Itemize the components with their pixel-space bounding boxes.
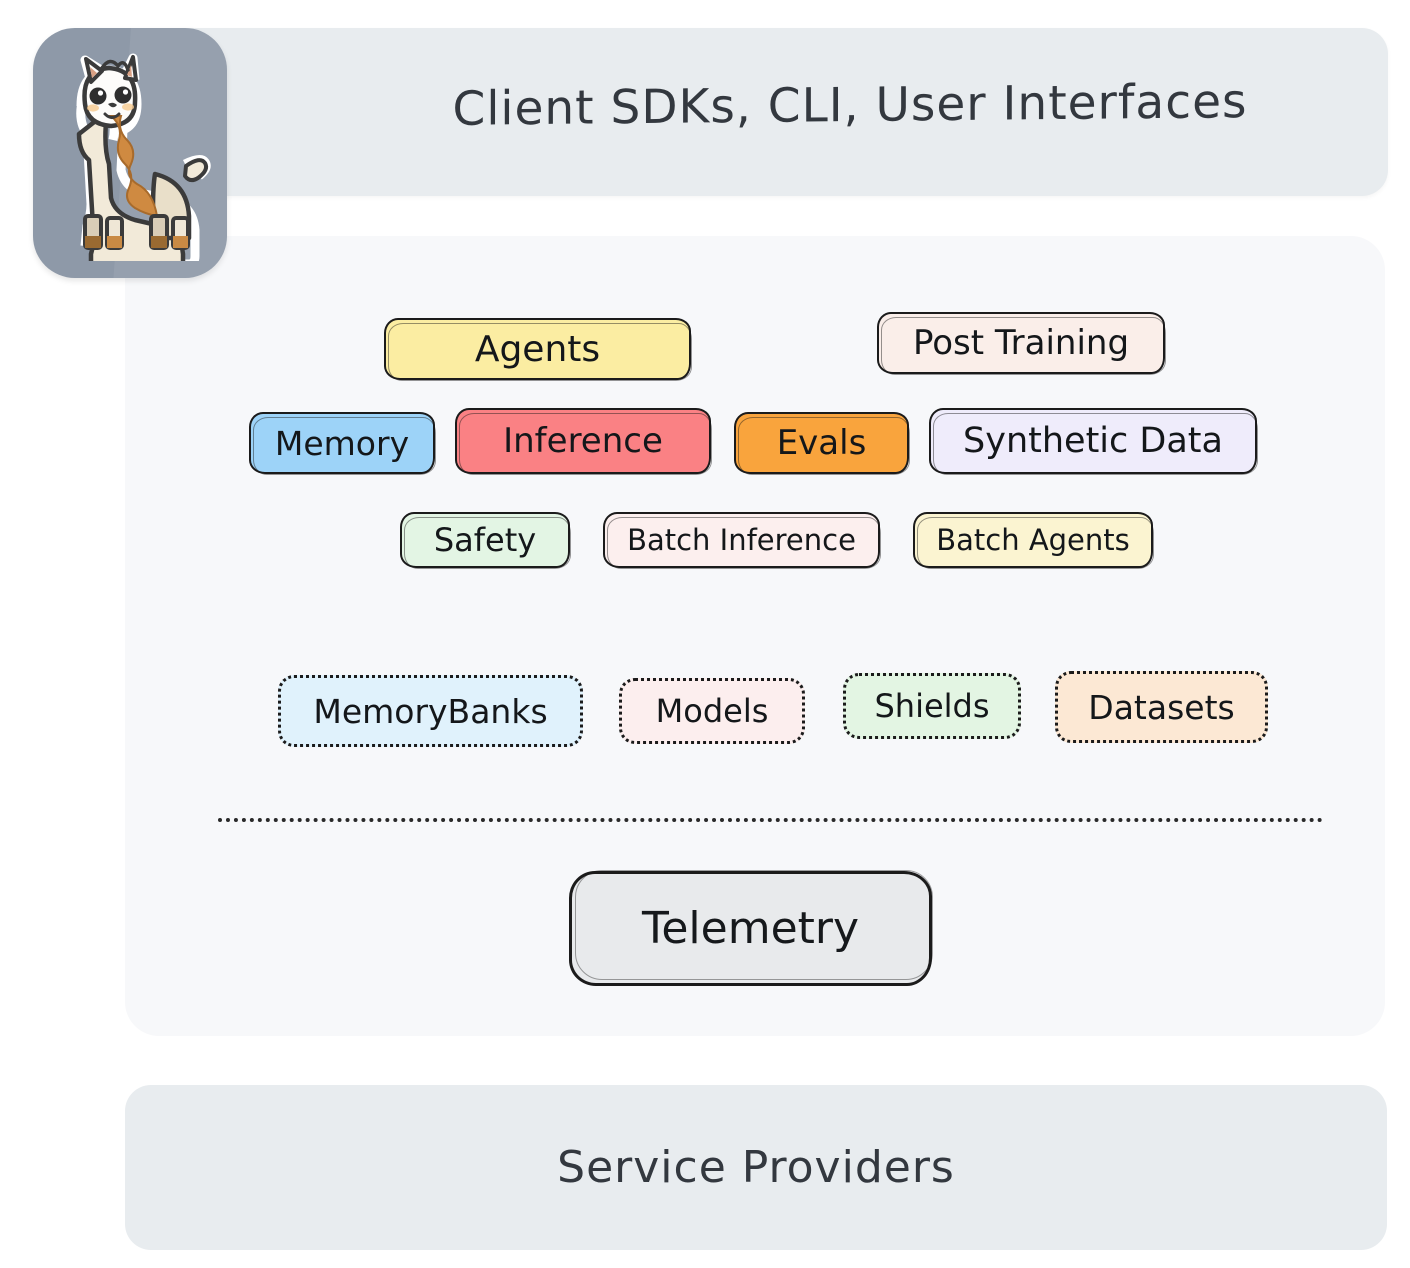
api-node-synthetic-data[interactable]: Synthetic Data	[929, 408, 1257, 474]
telemetry-node[interactable]: Telemetry	[569, 871, 932, 986]
api-node-memory[interactable]: Memory	[249, 412, 435, 474]
api-layer-panel: Agents Post Training Memory Inference Ev…	[125, 236, 1385, 1036]
api-node-inference[interactable]: Inference	[455, 408, 711, 474]
api-node-batch-inference[interactable]: Batch Inference	[603, 512, 880, 568]
layer-divider	[218, 818, 1323, 822]
api-node-safety[interactable]: Safety	[400, 512, 570, 568]
providers-layer-band: Service Providers	[125, 1085, 1387, 1250]
resource-node-memorybanks[interactable]: MemoryBanks	[278, 675, 583, 747]
client-layer-band: Client SDKs, CLI, User Interfaces	[125, 28, 1388, 196]
providers-title: Service Providers	[557, 1142, 955, 1193]
page-title: Client SDKs, CLI, User Interfaces	[300, 73, 1400, 139]
telemetry-label: Telemetry	[642, 903, 859, 954]
api-node-agents[interactable]: Agents	[384, 318, 691, 380]
resource-node-models[interactable]: Models	[619, 678, 805, 744]
resource-node-shields[interactable]: Shields	[843, 673, 1021, 739]
api-node-batch-agents[interactable]: Batch Agents	[913, 512, 1153, 568]
llama-logo-icon	[33, 28, 227, 278]
resource-node-datasets[interactable]: Datasets	[1055, 671, 1268, 743]
api-node-post-training[interactable]: Post Training	[877, 312, 1165, 374]
api-node-evals[interactable]: Evals	[734, 412, 909, 474]
llama-illustration-icon	[45, 46, 215, 261]
